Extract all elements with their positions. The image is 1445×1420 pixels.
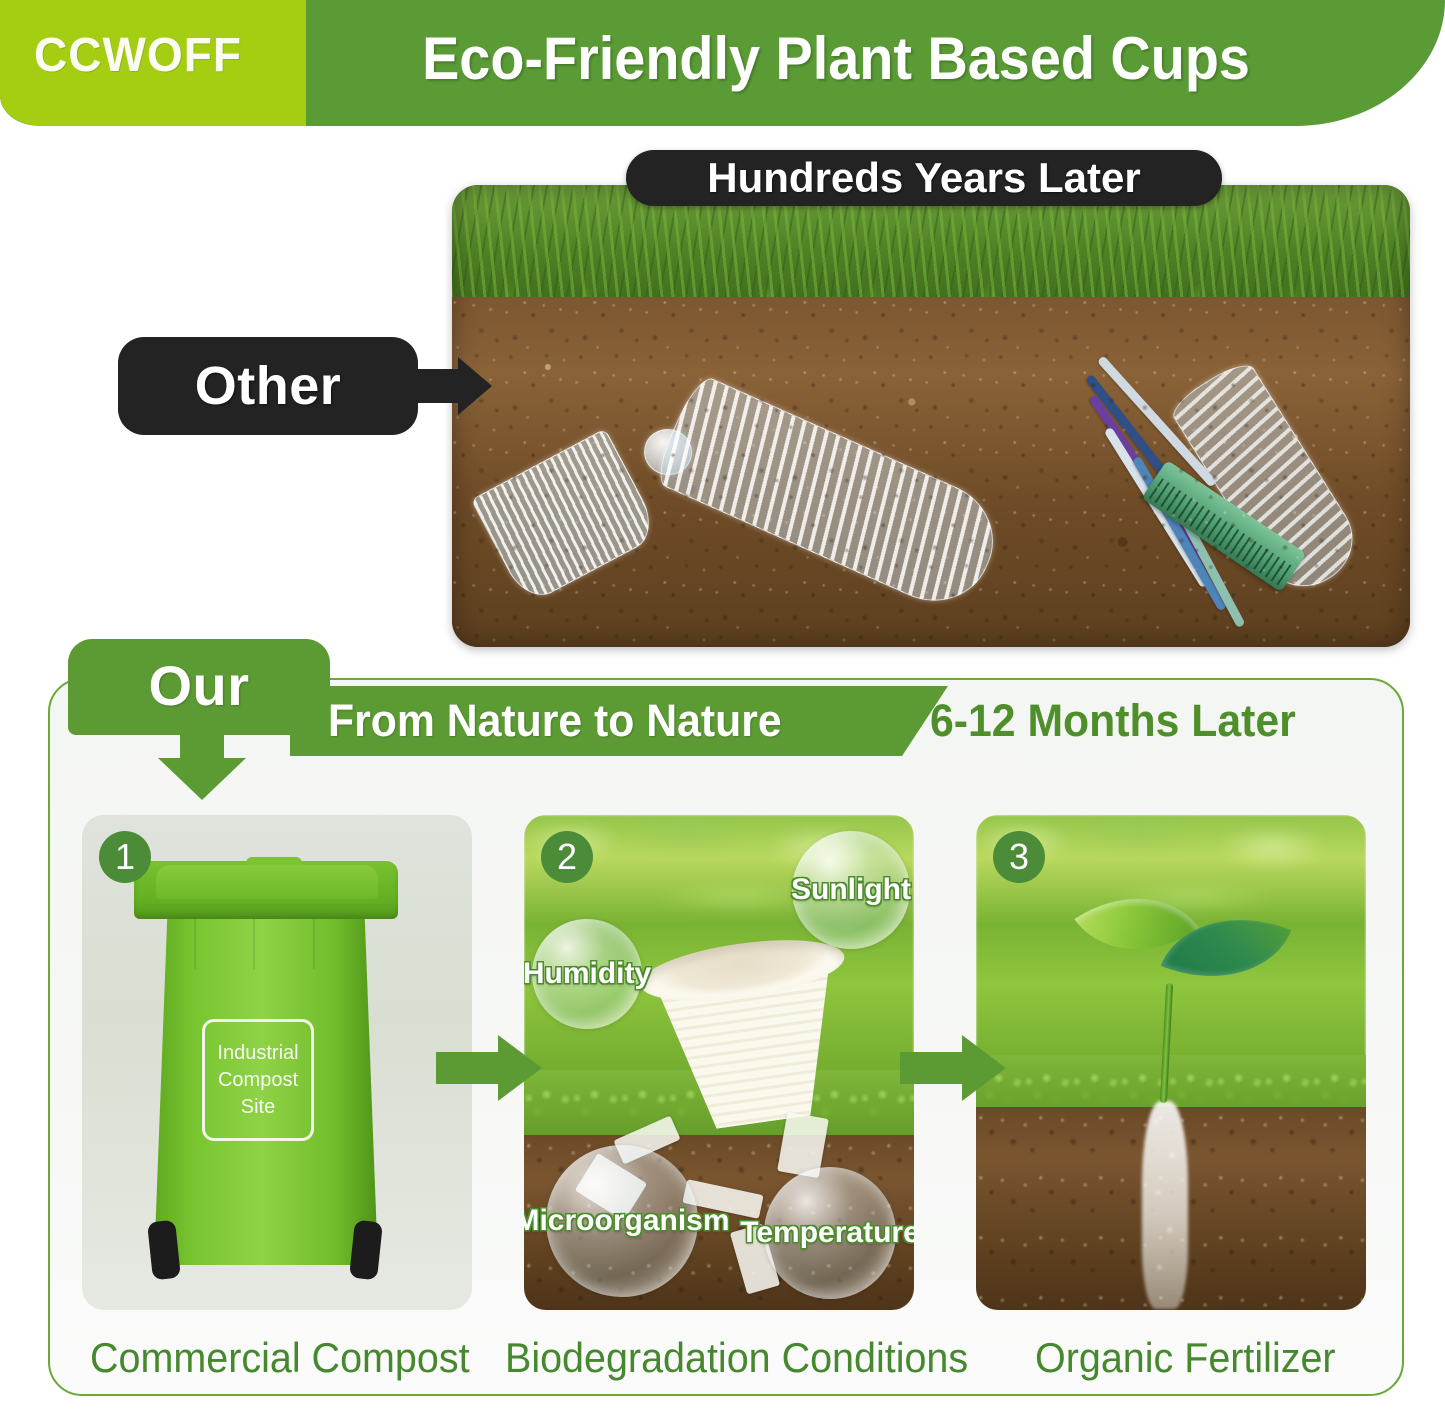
months-later-label: 6-12 Months Later [930,692,1296,750]
step-number-badge: 2 [541,831,593,883]
arrow-head [962,1035,1006,1101]
plastic-bottle-secondary-icon [1167,357,1370,604]
bubble-temperature: Temperature [764,1167,896,1299]
arrow-shaft [900,1052,966,1084]
straw-icon [1132,455,1227,611]
arrow-head [498,1035,542,1101]
our-tab: Our [68,639,330,735]
bin-label-box: Industrial Compost Site [202,1019,314,1141]
other-badge-body: Other [118,337,418,435]
straw-icon [1104,427,1210,589]
other-badge-label: Other [195,355,342,417]
brand-logo: CCWOFF [34,28,284,83]
our-arrow-down-icon [158,758,246,800]
step-panel-organic-fertilizer: 3 [976,815,1366,1310]
bubble-microorganism: Microorganism [546,1145,698,1297]
bin-lid-top [156,865,378,899]
bin-wheel-icon [147,1220,181,1281]
step-number-badge: 3 [993,831,1045,883]
caption-commercial-compost: Commercial Compost [90,1332,470,1384]
bottle-cap-icon [640,425,695,479]
page-title: Eco-Friendly Plant Based Cups [343,18,1329,100]
step-number-badge: 1 [99,831,151,883]
other-badge: Other [118,337,488,435]
bin-lid [134,861,398,919]
straw-icon [1085,374,1209,529]
straw-icon [1088,394,1207,565]
from-nature-to-nature-label: From Nature to Nature [328,692,782,750]
hundreds-years-later-badge: Hundreds Years Later [626,150,1222,206]
other-badge-arrow-head-icon [458,357,492,415]
other-waste-photo [452,185,1410,647]
caption-organic-fertilizer: Organic Fertilizer [1035,1332,1336,1384]
bubble-microorganism-label: Microorganism [524,1204,730,1238]
soil-layer-icon [452,297,1410,647]
caption-biodegradation-conditions: Biodegradation Conditions [505,1332,968,1384]
bin-label-line-3: Site [241,1096,275,1119]
compost-bin-icon: Industrial Compost Site [132,839,400,1289]
hundreds-years-later-label: Hundreds Years Later [707,154,1140,202]
bubble-humidity: Humidity [532,919,642,1029]
comb-icon [1141,460,1306,592]
step-panel-biodegradation: Sunlight Humidity Microorganism Temperat… [524,815,914,1310]
plant-based-cup-icon [629,928,874,1137]
step-arrow-1-to-2-icon [436,1035,542,1101]
straw-icon [1162,483,1245,628]
straw-icon [1097,355,1217,487]
organic-fertilizer-icon [1142,1101,1188,1309]
bin-label-line-1: Industrial [217,1042,298,1065]
bin-label-line-2: Compost [218,1069,298,1092]
bubble-sunlight: Sunlight [792,831,910,949]
header-bar: CCWOFF Eco-Friendly Plant Based Cups [0,0,1445,126]
bubble-sunlight-label: Sunlight [791,873,911,907]
bubble-humidity-label: Humidity [524,957,651,991]
arrow-shaft [436,1052,502,1084]
bubble-temperature-label: Temperature [740,1216,914,1250]
our-tab-label: Our [148,653,249,718]
bin-wheel-icon [349,1220,383,1281]
plastic-cup-icon [471,428,662,605]
process-band: From Nature to Nature 6-12 Months Later [290,686,1404,756]
plastic-bottle-icon [651,373,1011,620]
step-arrow-2-to-3-icon [900,1035,1006,1101]
step-panel-commercial-compost: 1 Industrial Compost Site [82,815,472,1310]
